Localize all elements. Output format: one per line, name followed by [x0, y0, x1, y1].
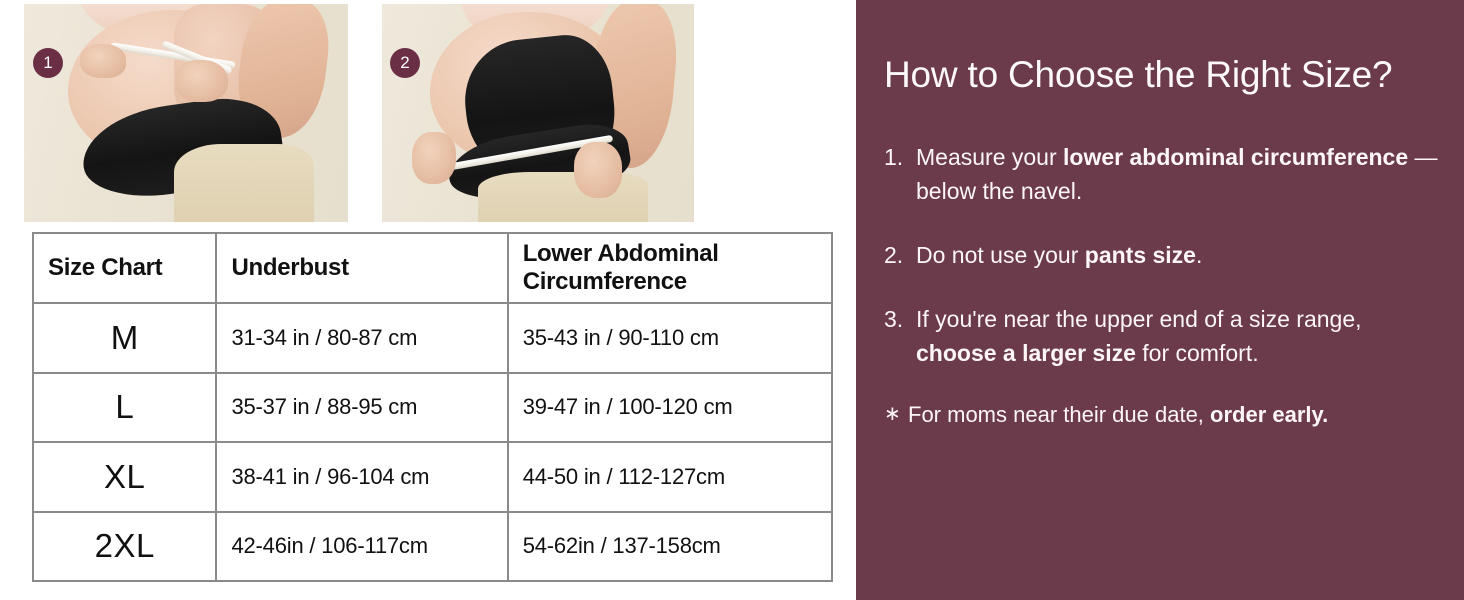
photo-1-hand-right	[176, 60, 228, 102]
step-number: 1.	[884, 140, 916, 208]
step-item: 2. Do not use your pants size.	[884, 238, 1438, 272]
step-text: Do not use your pants size.	[916, 238, 1438, 272]
asterisk-icon: ∗	[884, 400, 908, 431]
note-text: For moms near their due date, order earl…	[908, 400, 1328, 431]
step-item: 3. If you're near the upper end of a siz…	[884, 302, 1438, 370]
cell-lower-abdominal: 54-62in / 137-158cm	[508, 512, 832, 582]
left-column: 1 2	[0, 0, 856, 600]
cell-underbust: 31-34 in / 80-87 cm	[216, 303, 507, 373]
size-chart-table-wrapper: Size Chart Underbust Lower Abdominal Cir…	[32, 232, 833, 582]
step-text: Measure your lower abdominal circumferen…	[916, 140, 1438, 208]
photo-1-scene	[24, 4, 348, 222]
cell-lower-abdominal: 35-43 in / 90-110 cm	[508, 303, 832, 373]
how-to-choose-panel: How to Choose the Right Size? 1. Measure…	[856, 0, 1464, 600]
column-header-lower-line2: Circumference	[523, 268, 687, 295]
step-item: 1. Measure your lower abdominal circumfe…	[884, 140, 1438, 208]
panel-title: How to Choose the Right Size?	[884, 54, 1438, 96]
order-early-note: ∗ For moms near their due date, order ea…	[884, 400, 1438, 431]
table-body: M 31-34 in / 80-87 cm 35-43 in / 90-110 …	[33, 303, 832, 581]
size-chart-table: Size Chart Underbust Lower Abdominal Cir…	[32, 232, 833, 582]
table-row: XL 38-41 in / 96-104 cm 44-50 in / 112-1…	[33, 442, 832, 512]
cell-size: 2XL	[33, 512, 216, 582]
table-header-row: Size Chart Underbust Lower Abdominal Cir…	[33, 233, 832, 303]
cell-size: M	[33, 303, 216, 373]
table-row: L 35-37 in / 88-95 cm 39-47 in / 100-120…	[33, 373, 832, 443]
photo-step-2: 2	[382, 4, 694, 222]
column-header-size: Size Chart	[33, 233, 216, 303]
photo-badge-1: 1	[33, 48, 63, 78]
photo-step-1: 1	[24, 4, 348, 222]
photo-1-hand-left	[80, 44, 126, 78]
cell-underbust: 35-37 in / 88-95 cm	[216, 373, 507, 443]
step-text: If you're near the upper end of a size r…	[916, 302, 1438, 370]
photo-strip: 1 2	[0, 0, 856, 224]
photo-badge-2: 2	[390, 48, 420, 78]
cell-lower-abdominal: 44-50 in / 112-127cm	[508, 442, 832, 512]
photo-1-legging	[174, 144, 314, 222]
photo-2-legging	[478, 172, 648, 222]
photo-2-hand-left	[412, 132, 456, 184]
cell-lower-abdominal: 39-47 in / 100-120 cm	[508, 373, 832, 443]
step-number: 2.	[884, 238, 916, 272]
steps-list: 1. Measure your lower abdominal circumfe…	[884, 140, 1438, 370]
table-row: M 31-34 in / 80-87 cm 35-43 in / 90-110 …	[33, 303, 832, 373]
table-row: 2XL 42-46in / 106-117cm 54-62in / 137-15…	[33, 512, 832, 582]
column-header-lower-line1: Lower Abdominal	[523, 240, 719, 267]
cell-size: XL	[33, 442, 216, 512]
photo-2-scene	[382, 4, 694, 222]
photo-2-hand-right	[574, 142, 622, 198]
size-guide-banner: 1 2	[0, 0, 1464, 600]
column-header-underbust: Underbust	[216, 233, 507, 303]
column-header-lower-abdominal: Lower Abdominal Circumference	[508, 233, 832, 303]
cell-underbust: 38-41 in / 96-104 cm	[216, 442, 507, 512]
cell-size: L	[33, 373, 216, 443]
cell-underbust: 42-46in / 106-117cm	[216, 512, 507, 582]
step-number: 3.	[884, 302, 916, 370]
